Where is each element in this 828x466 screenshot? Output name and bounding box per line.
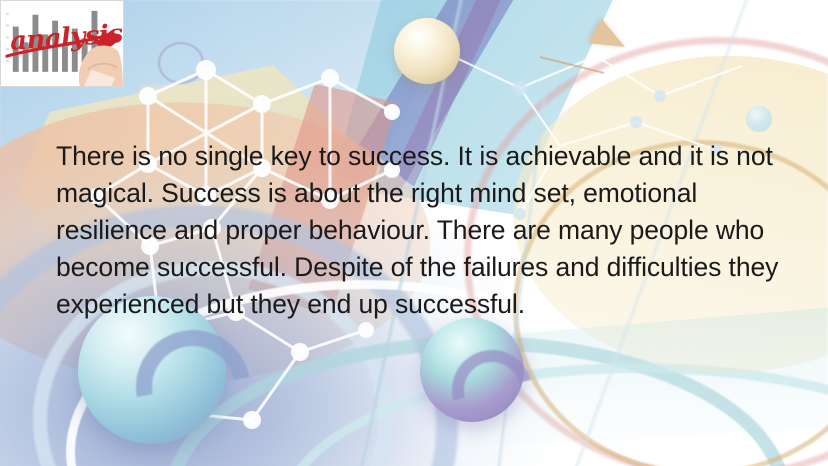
cream-sphere-decor — [394, 18, 460, 84]
small-blue-dot-decor — [746, 106, 772, 132]
analysis-logo-image[interactable]: analysis — [0, 0, 124, 87]
presentation-slide: analysis There is no single key to succe… — [0, 0, 828, 466]
slide-body-text: There is no single key to success. It is… — [56, 138, 798, 323]
